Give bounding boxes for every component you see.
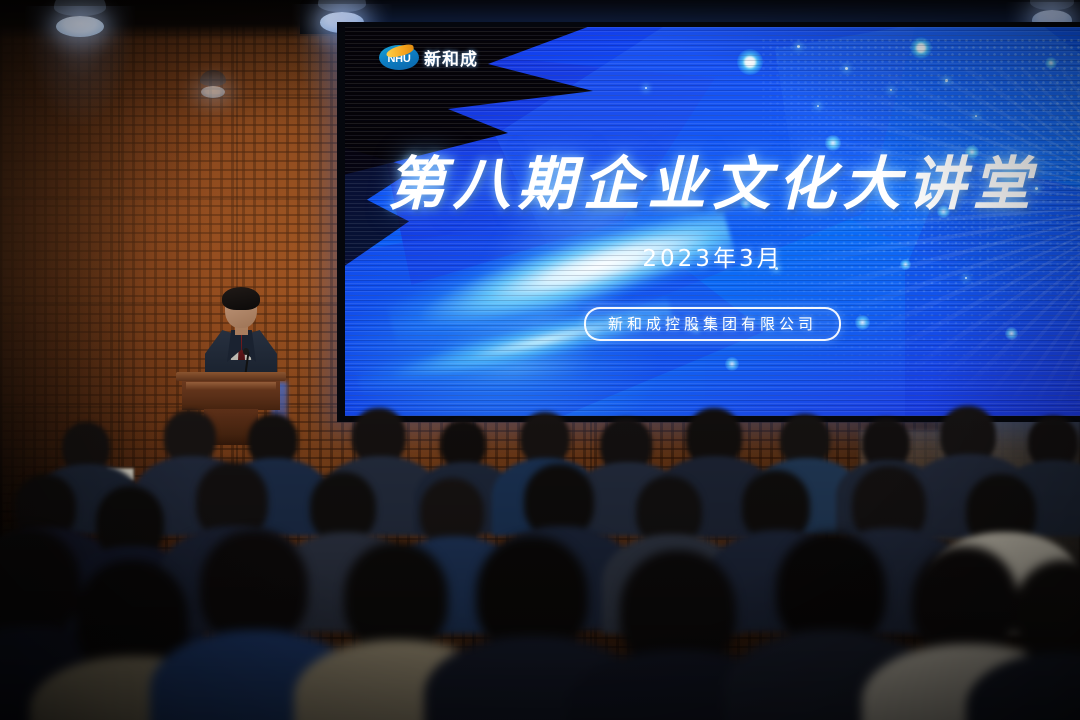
- screen-title: 第八期企业文化大讲堂: [345, 137, 1080, 221]
- audience-head: [1014, 560, 1080, 666]
- presenter-hair: [222, 287, 260, 310]
- led-scanline-overlay: [345, 27, 1080, 416]
- podium-highlight: [186, 382, 276, 390]
- ceiling-spotlight-icon: [200, 70, 226, 96]
- screen-company-badge: 新和成控股集团有限公司: [584, 307, 841, 341]
- nhu-brand-logo: NHU 新和成: [379, 45, 478, 70]
- audience-head: [912, 546, 1018, 658]
- audience-head: [344, 542, 448, 652]
- audience-row-near: [0, 400, 1080, 720]
- screen-company-badge-wrap: 新和成控股集团有限公司: [345, 307, 1080, 341]
- ceiling-spotlight-icon: [54, 0, 106, 34]
- nhu-logo-oval: NHU: [379, 45, 419, 70]
- screen-date: 2023年3月: [345, 239, 1080, 273]
- audience-head: [200, 530, 308, 644]
- microphone-icon: [243, 348, 249, 355]
- led-screen[interactable]: NHU 新和成 第八期企业文化大讲堂 2023年3月 新和成控股集团有限公司: [345, 27, 1080, 416]
- podium-top-surface: [176, 372, 286, 381]
- nhu-logo-name-cn: 新和成: [424, 45, 478, 70]
- photo-scene: NHU 新和成 第八期企业文化大讲堂 2023年3月 新和成控股集团有限公司: [0, 0, 1080, 720]
- audience-head: [0, 528, 80, 638]
